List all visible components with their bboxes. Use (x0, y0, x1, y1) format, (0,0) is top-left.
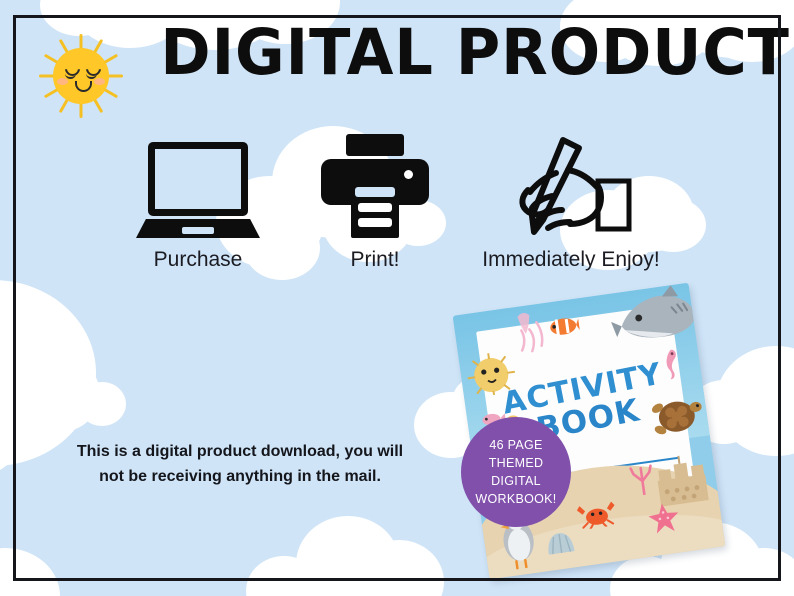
page-title: DIGITAL PRODUCT (160, 20, 659, 86)
page-count-badge: 46 PAGE THEMED DIGITAL WORKBOOK! (461, 417, 571, 527)
badge-line-1: 46 PAGE (475, 436, 556, 454)
step-enjoy: Immediately Enjoy! (455, 128, 687, 272)
disclaimer-line-2: not be receiving anything in the mail. (55, 465, 425, 490)
step-print: Print! (300, 128, 450, 272)
starfish-icon (647, 501, 681, 534)
badge-line-2: THEMED (475, 454, 556, 472)
step-purchase-label: Purchase (108, 248, 288, 272)
badge-line-3: DIGITAL (475, 472, 556, 490)
crab-icon (576, 497, 618, 530)
disclaimer-line-1: This is a digital product download, you … (55, 440, 425, 465)
laptop-icon (108, 128, 288, 240)
steps-row: Purchase Print! (0, 128, 794, 298)
disclaimer-text: This is a digital product download, you … (55, 440, 425, 490)
printer-icon (300, 128, 450, 240)
digital-product-listing-image: DIGITAL PRODUCT Purchase (0, 0, 794, 596)
sandcastle-icon (651, 452, 713, 509)
badge-line-4: WORKBOOK! (475, 490, 556, 508)
hand-writing-pencil-icon (455, 128, 687, 240)
seashell-icon (546, 531, 575, 554)
step-print-label: Print! (300, 248, 450, 272)
smiling-sun-icon (33, 28, 129, 124)
sun-face (53, 48, 109, 104)
step-enjoy-label: Immediately Enjoy! (455, 248, 687, 272)
step-purchase: Purchase (108, 128, 288, 272)
